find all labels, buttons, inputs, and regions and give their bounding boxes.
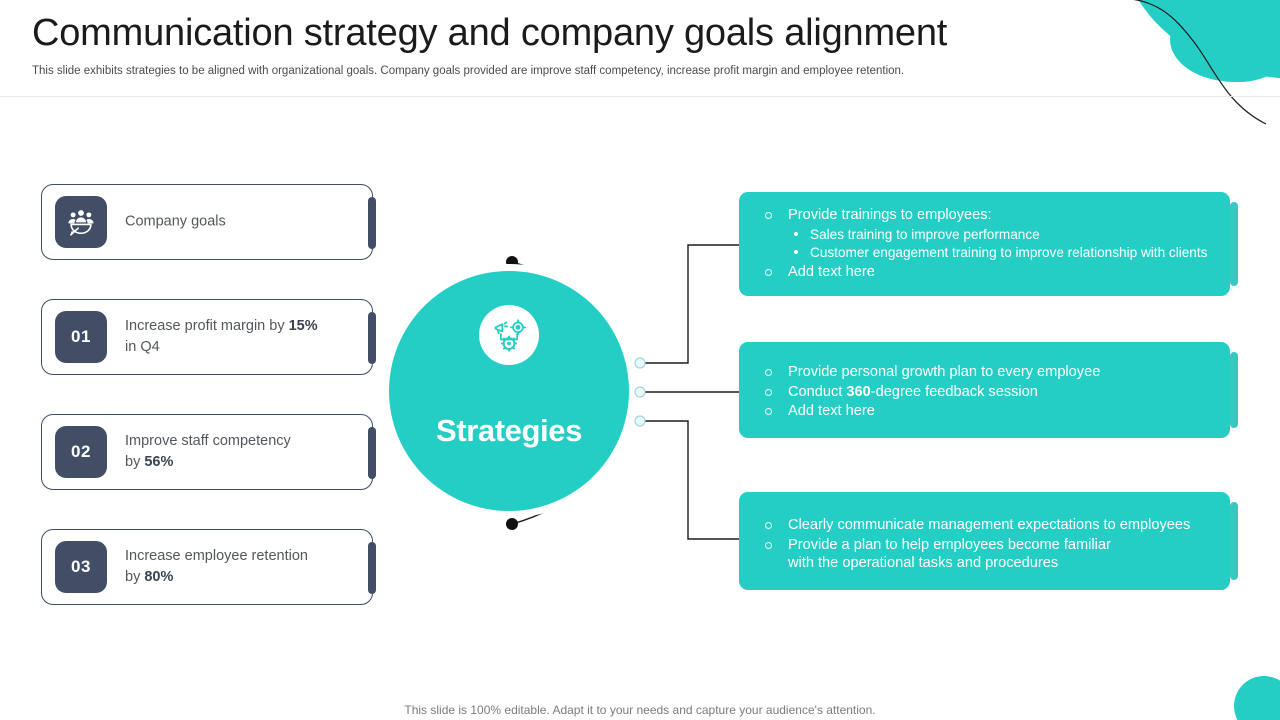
strategy-megaphone-target-gear-icon (479, 305, 539, 365)
center-label: Strategies (389, 413, 629, 449)
goal-card-text: Improve staff competencyby 56% (125, 431, 354, 473)
list-item: Add text here (761, 263, 1212, 282)
list-item: Add text here (761, 402, 1212, 421)
strategy-accent-bar (1230, 352, 1238, 428)
list-item: Provide a plan to help employees become … (761, 536, 1212, 573)
bullet-text: Provide a plan to help employees become … (788, 537, 1111, 572)
strategy-bullet-list: Clearly communicate management expectati… (761, 516, 1212, 573)
page-title: Communication strategy and company goals… (32, 12, 947, 55)
strategy-accent-bar (1230, 202, 1238, 286)
strategy-box-1[interactable]: Provide trainings to employees: Sales tr… (739, 192, 1230, 296)
strategy-bullet-list: Provide personal growth plan to every em… (761, 363, 1212, 421)
bullet-text: Provide personal growth plan to every em… (788, 364, 1100, 380)
goal-number-badge: 02 (55, 426, 107, 478)
header-divider (0, 96, 1280, 97)
company-goals-people-target-icon (55, 196, 107, 248)
page-subtitle: This slide exhibits strategies to be ali… (32, 65, 904, 77)
slide-canvas: Communication strategy and company goals… (0, 0, 1280, 720)
card-accent-bar (368, 427, 376, 479)
card-accent-bar (368, 312, 376, 364)
card-accent-bar (368, 197, 376, 249)
strategy-bullet-list: Provide trainings to employees: Sales tr… (761, 206, 1212, 281)
bullet-text: Conduct 360-degree feedback session (788, 384, 1038, 400)
goal-number-badge: 01 (55, 311, 107, 363)
strategy-box-3[interactable]: Clearly communicate management expectati… (739, 492, 1230, 590)
list-item: Clearly communicate management expectati… (761, 516, 1212, 535)
circle-bullet-icon (765, 212, 772, 219)
curve-line-decoration (1116, 0, 1280, 126)
circle-bullet-icon (765, 369, 772, 376)
goal-card-01[interactable]: 01 Increase profit margin by 15%in Q4 (41, 299, 373, 375)
sub-bullet-text: Customer engagement training to improve … (810, 245, 1207, 260)
bullet-text: Add text here (788, 264, 875, 280)
goal-card-company-goals[interactable]: Company goals (41, 184, 373, 260)
goal-card-03[interactable]: 03 Increase employee retentionby 80% (41, 529, 373, 605)
dot-bullet-icon (794, 250, 798, 254)
strategy-box-2[interactable]: Provide personal growth plan to every em… (739, 342, 1230, 438)
center-strategies-node[interactable]: Strategies (389, 271, 629, 511)
dot-bullet-icon (794, 232, 798, 236)
circle-bullet-icon (765, 408, 772, 415)
circle-bullet-icon (765, 389, 772, 396)
goal-number-badge: 03 (55, 541, 107, 593)
bullet-text: Add text here (788, 403, 875, 419)
list-item: Sales training to improve performance (788, 226, 1212, 244)
goal-card-02[interactable]: 02 Improve staff competencyby 56% (41, 414, 373, 490)
circle-bullet-icon (765, 269, 772, 276)
circle-bullet-icon (765, 522, 772, 529)
list-item: Conduct 360-degree feedback session (761, 383, 1212, 402)
list-item: Provide personal growth plan to every em… (761, 363, 1212, 382)
goal-card-text: Company goals (125, 211, 354, 232)
circle-bullet-icon (765, 542, 772, 549)
sub-bullet-text: Sales training to improve performance (810, 227, 1040, 242)
list-item: Provide trainings to employees: Sales tr… (761, 206, 1212, 262)
goal-card-text: Increase profit margin by 15%in Q4 (125, 316, 354, 358)
bullet-text: Clearly communicate management expectati… (788, 517, 1190, 533)
bullet-text: Provide trainings to employees: (788, 207, 992, 223)
connector-lines (630, 200, 750, 560)
slide-footer-note: This slide is 100% editable. Adapt it to… (0, 703, 1280, 717)
list-item: Customer engagement training to improve … (788, 244, 1212, 262)
strategy-sub-list: Sales training to improve performance Cu… (788, 226, 1212, 262)
strategy-accent-bar (1230, 502, 1238, 580)
goal-card-text: Increase employee retentionby 80% (125, 546, 354, 588)
card-accent-bar (368, 542, 376, 594)
